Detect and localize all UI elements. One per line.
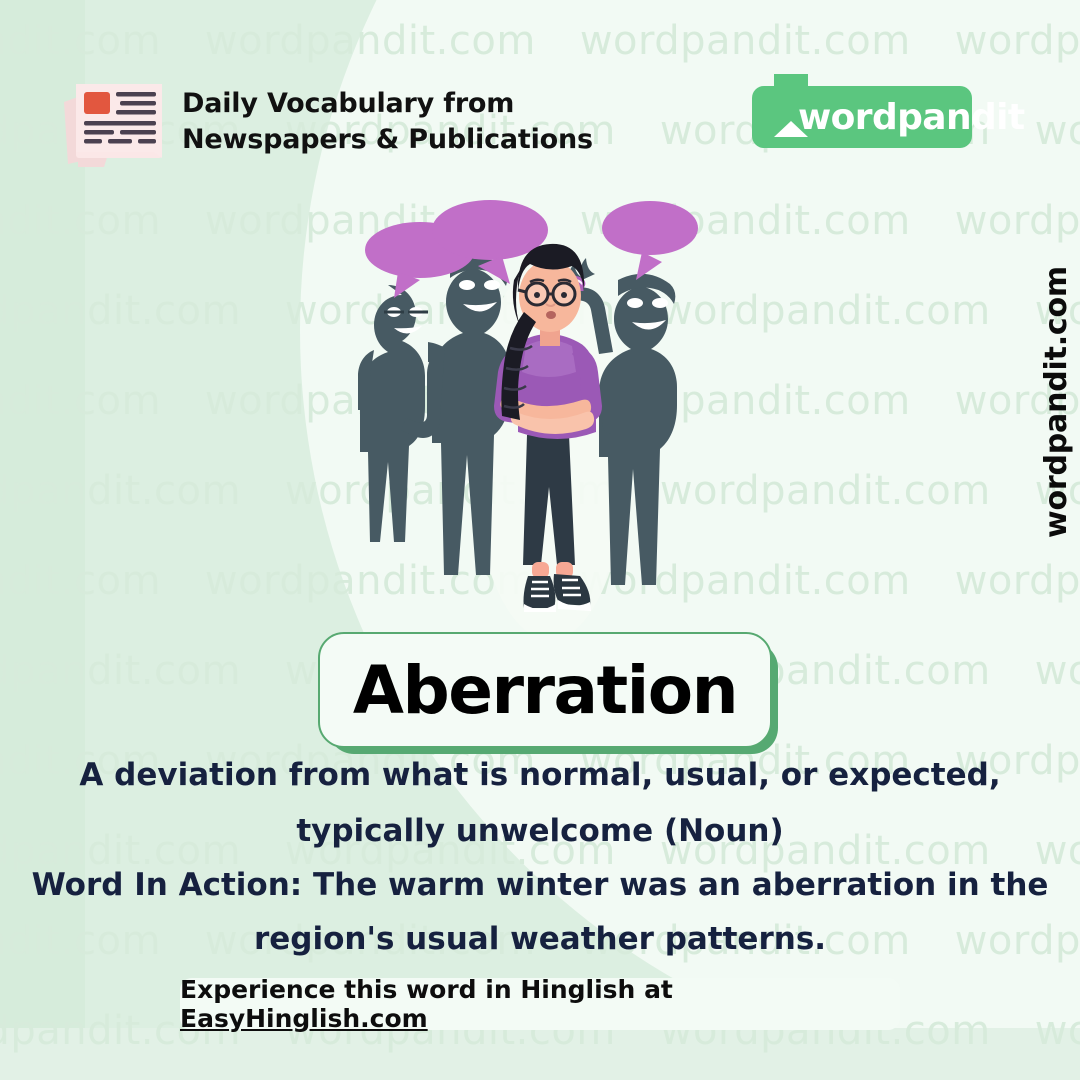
- header: Daily Vocabulary from Newspapers & Publi…: [0, 0, 1080, 190]
- background-bottom-strip: [0, 1028, 1080, 1080]
- word-in-action: Word In Action: The warm winter was an a…: [20, 858, 1060, 967]
- usage-line-1: Word In Action: The warm winter was an a…: [20, 858, 1060, 912]
- brand-logo[interactable]: wordpandit: [752, 86, 972, 148]
- word-definition: A deviation from what is normal, usual, …: [40, 748, 1040, 860]
- speech-bubble-right: [602, 201, 698, 280]
- easyhinglish-link[interactable]: EasyHinglish.com: [180, 1004, 428, 1033]
- usage-line-2: region's usual weather patterns.: [20, 912, 1060, 966]
- definition-line-1: A deviation from what is normal, usual, …: [40, 748, 1040, 804]
- side-vertical-url: wordpandit.com: [1039, 266, 1074, 538]
- definition-line-2: typically unwelcome (Noun): [40, 804, 1040, 860]
- newspaper-icon: [58, 72, 173, 167]
- brand-logo-label: wordpandit: [798, 97, 1025, 138]
- word-card: Aberration: [318, 632, 768, 744]
- sneaker-left: [524, 576, 557, 612]
- word-card-body: Aberration: [318, 632, 772, 748]
- footer-banner: Experience this word in Hinglish at Easy…: [180, 978, 900, 1030]
- headline-line-2: Newspapers & Publications: [182, 122, 593, 158]
- vocabulary-card-canvas: wordpandit.comwordpandit.comwordpandit.c…: [0, 0, 1080, 1080]
- headline-line-1: Daily Vocabulary from: [182, 86, 593, 122]
- header-headline: Daily Vocabulary from Newspapers & Publi…: [182, 86, 593, 157]
- illustration-gossip-scene: [350, 200, 740, 640]
- vocabulary-word: Aberration: [353, 652, 737, 729]
- footer-text: Experience this word in Hinglish at Easy…: [180, 975, 900, 1033]
- footer-prefix: Experience this word in Hinglish at: [180, 975, 673, 1004]
